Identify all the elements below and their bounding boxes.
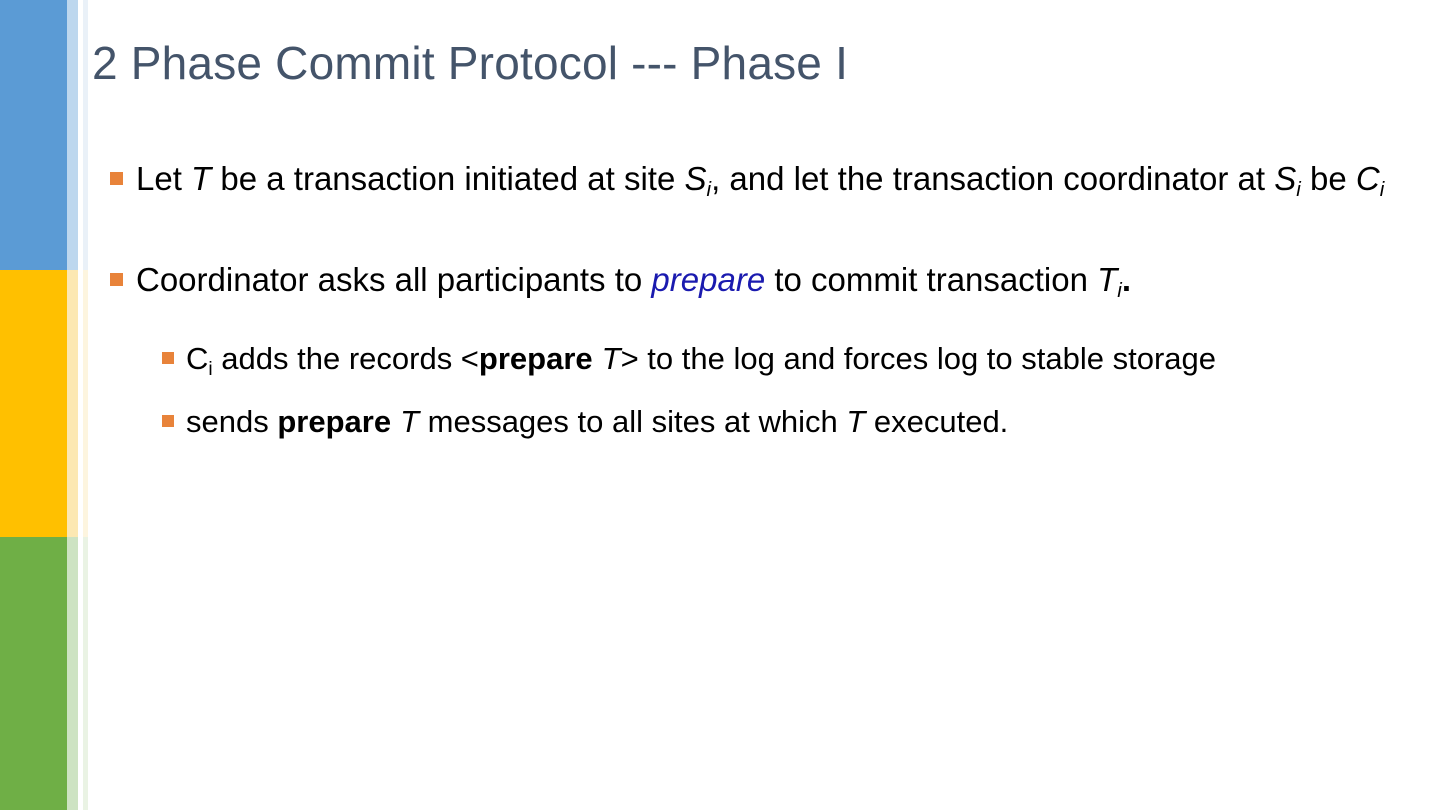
seg-text: executed. — [865, 404, 1008, 439]
seg-text: be — [1301, 160, 1356, 197]
bullet-text-let-t: Let T be a transaction initiated at site… — [136, 160, 1384, 197]
seg-sub-i: i — [1380, 178, 1385, 201]
seg-bold-period: . — [1122, 261, 1131, 298]
seg-italic-t: T — [846, 404, 865, 439]
bullet-square-icon — [110, 172, 123, 185]
slide-canvas: 2 Phase Commit Protocol --- Phase I Let … — [0, 0, 1440, 810]
bullet-spacer — [108, 211, 1408, 253]
seg-italic-s: S — [1274, 160, 1296, 197]
seg-bold-prepare: prepare — [479, 341, 593, 376]
bullet-item-sends-prepare: sends prepareT messages to all sites at … — [158, 393, 1408, 451]
decorative-sidebar — [0, 0, 90, 810]
seg-text: be a transaction initiated at site — [211, 160, 684, 197]
seg-italic-t: T — [602, 341, 621, 376]
seg-text: messages to all sites at which — [419, 404, 846, 439]
slide-body: Let T be a transaction initiated at site… — [108, 152, 1408, 451]
seg-sub-i: i — [707, 178, 712, 201]
seg-text: adds the records < — [213, 341, 479, 376]
seg-emphasis-prepare: prepare — [651, 261, 765, 298]
bullet-item-ci-adds-records: Ci adds the records <prepareT> to the lo… — [158, 330, 1408, 393]
bullet-item-let-t: Let T be a transaction initiated at site… — [108, 152, 1408, 211]
seg-bold-prepare: prepare — [277, 404, 391, 439]
seg-italic-t: T — [1097, 261, 1117, 298]
seg-text: > to the log and forces log to stable st… — [621, 341, 1216, 376]
bullet-spacer — [108, 312, 1408, 330]
sidebar-band-green — [0, 537, 67, 810]
sidebar-band-yellow — [0, 270, 67, 537]
seg-italic-c: C — [1356, 160, 1380, 197]
seg-sub-i: i — [1117, 279, 1122, 302]
seg-text: sends — [186, 404, 277, 439]
sidebar-band-blue — [0, 0, 67, 270]
seg-italic-s: S — [685, 160, 707, 197]
bullet-square-icon — [162, 415, 174, 427]
sidebar-band-green-faint — [83, 537, 88, 810]
bullet-text-ci-adds-records: Ci adds the records <prepareT> to the lo… — [186, 341, 1216, 376]
seg-text: , and let the transaction coordinator at — [711, 160, 1274, 197]
seg-italic-t: T — [191, 160, 211, 197]
seg-text: C — [186, 341, 208, 376]
sidebar-band-blue-faint — [83, 0, 88, 270]
seg-text: to commit transaction — [765, 261, 1097, 298]
bullet-text-coordinator-prepare: Coordinator asks all participants to pre… — [136, 261, 1131, 298]
sidebar-band-green-tint — [67, 537, 78, 810]
bullet-item-coordinator-prepare: Coordinator asks all participants to pre… — [108, 253, 1408, 312]
seg-text: Let — [136, 160, 191, 197]
sidebar-band-yellow-tint — [67, 270, 78, 537]
seg-text: Coordinator asks all participants to — [136, 261, 651, 298]
slide-title: 2 Phase Commit Protocol --- Phase I — [92, 36, 1392, 90]
bullet-text-sends-prepare: sends prepareT messages to all sites at … — [186, 404, 1008, 439]
sidebar-band-yellow-faint — [83, 270, 88, 537]
bullet-square-icon — [162, 352, 174, 364]
bullet-square-icon — [110, 273, 123, 286]
seg-italic-t: T — [400, 404, 419, 439]
seg-sub-i: i — [1296, 178, 1301, 201]
seg-sub-i: i — [208, 359, 212, 380]
sidebar-band-blue-tint — [67, 0, 78, 270]
